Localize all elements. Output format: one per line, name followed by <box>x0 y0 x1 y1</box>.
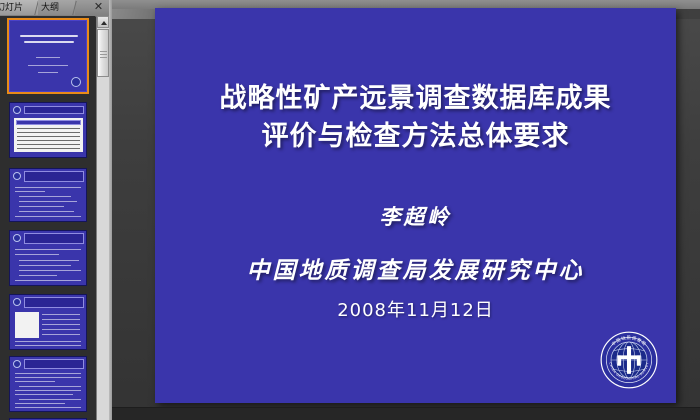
slide-title-line-2: 评价与检查方法总体要求 <box>155 118 676 156</box>
slide-workspace: 战略性矿产远景调查数据库成果 评价与检查方法总体要求 李超岭 中国地质调查局发展… <box>112 0 700 420</box>
list-item[interactable] <box>9 230 87 286</box>
thumbnail-scrollbar[interactable] <box>96 16 109 420</box>
tab-outline[interactable]: 大纲 <box>38 0 75 15</box>
slide-thumbnail-panel: 幻灯片 大纲 ✕ <box>0 0 112 420</box>
list-item[interactable] <box>9 168 87 222</box>
scroll-up-button[interactable] <box>97 16 109 28</box>
slide-canvas[interactable]: 战略性矿产远景调查数据库成果 评价与检查方法总体要求 李超岭 中国地质调查局发展… <box>155 8 676 403</box>
scrollbar-thumb[interactable] <box>97 29 109 77</box>
slide-author[interactable]: 李超岭 <box>155 201 676 231</box>
list-item[interactable] <box>9 356 87 412</box>
thumbnail-list[interactable] <box>0 16 95 420</box>
panel-tabbar: 幻灯片 大纲 ✕ <box>0 0 112 17</box>
tab-slides[interactable]: 幻灯片 <box>0 0 38 15</box>
slide-organization[interactable]: 中国地质调查局发展研究中心 <box>155 251 676 285</box>
presentation-editor-window: 幻灯片 大纲 ✕ <box>0 0 700 420</box>
slide-date[interactable]: 2008年11月12日 <box>155 296 676 322</box>
china-geological-survey-logo: 中国地质调查局 CHINA GEOLOGICAL SURVEY <box>600 331 658 389</box>
close-icon[interactable]: ✕ <box>92 1 105 14</box>
workspace-bottom-bar <box>112 407 700 420</box>
chevron-up-icon <box>101 21 107 25</box>
list-item[interactable] <box>9 294 87 350</box>
list-item[interactable] <box>9 20 87 92</box>
list-item[interactable] <box>9 102 87 158</box>
slide-title[interactable]: 战略性矿产远景调查数据库成果 评价与检查方法总体要求 <box>155 80 676 156</box>
slide-title-line-1: 战略性矿产远景调查数据库成果 <box>155 80 676 118</box>
